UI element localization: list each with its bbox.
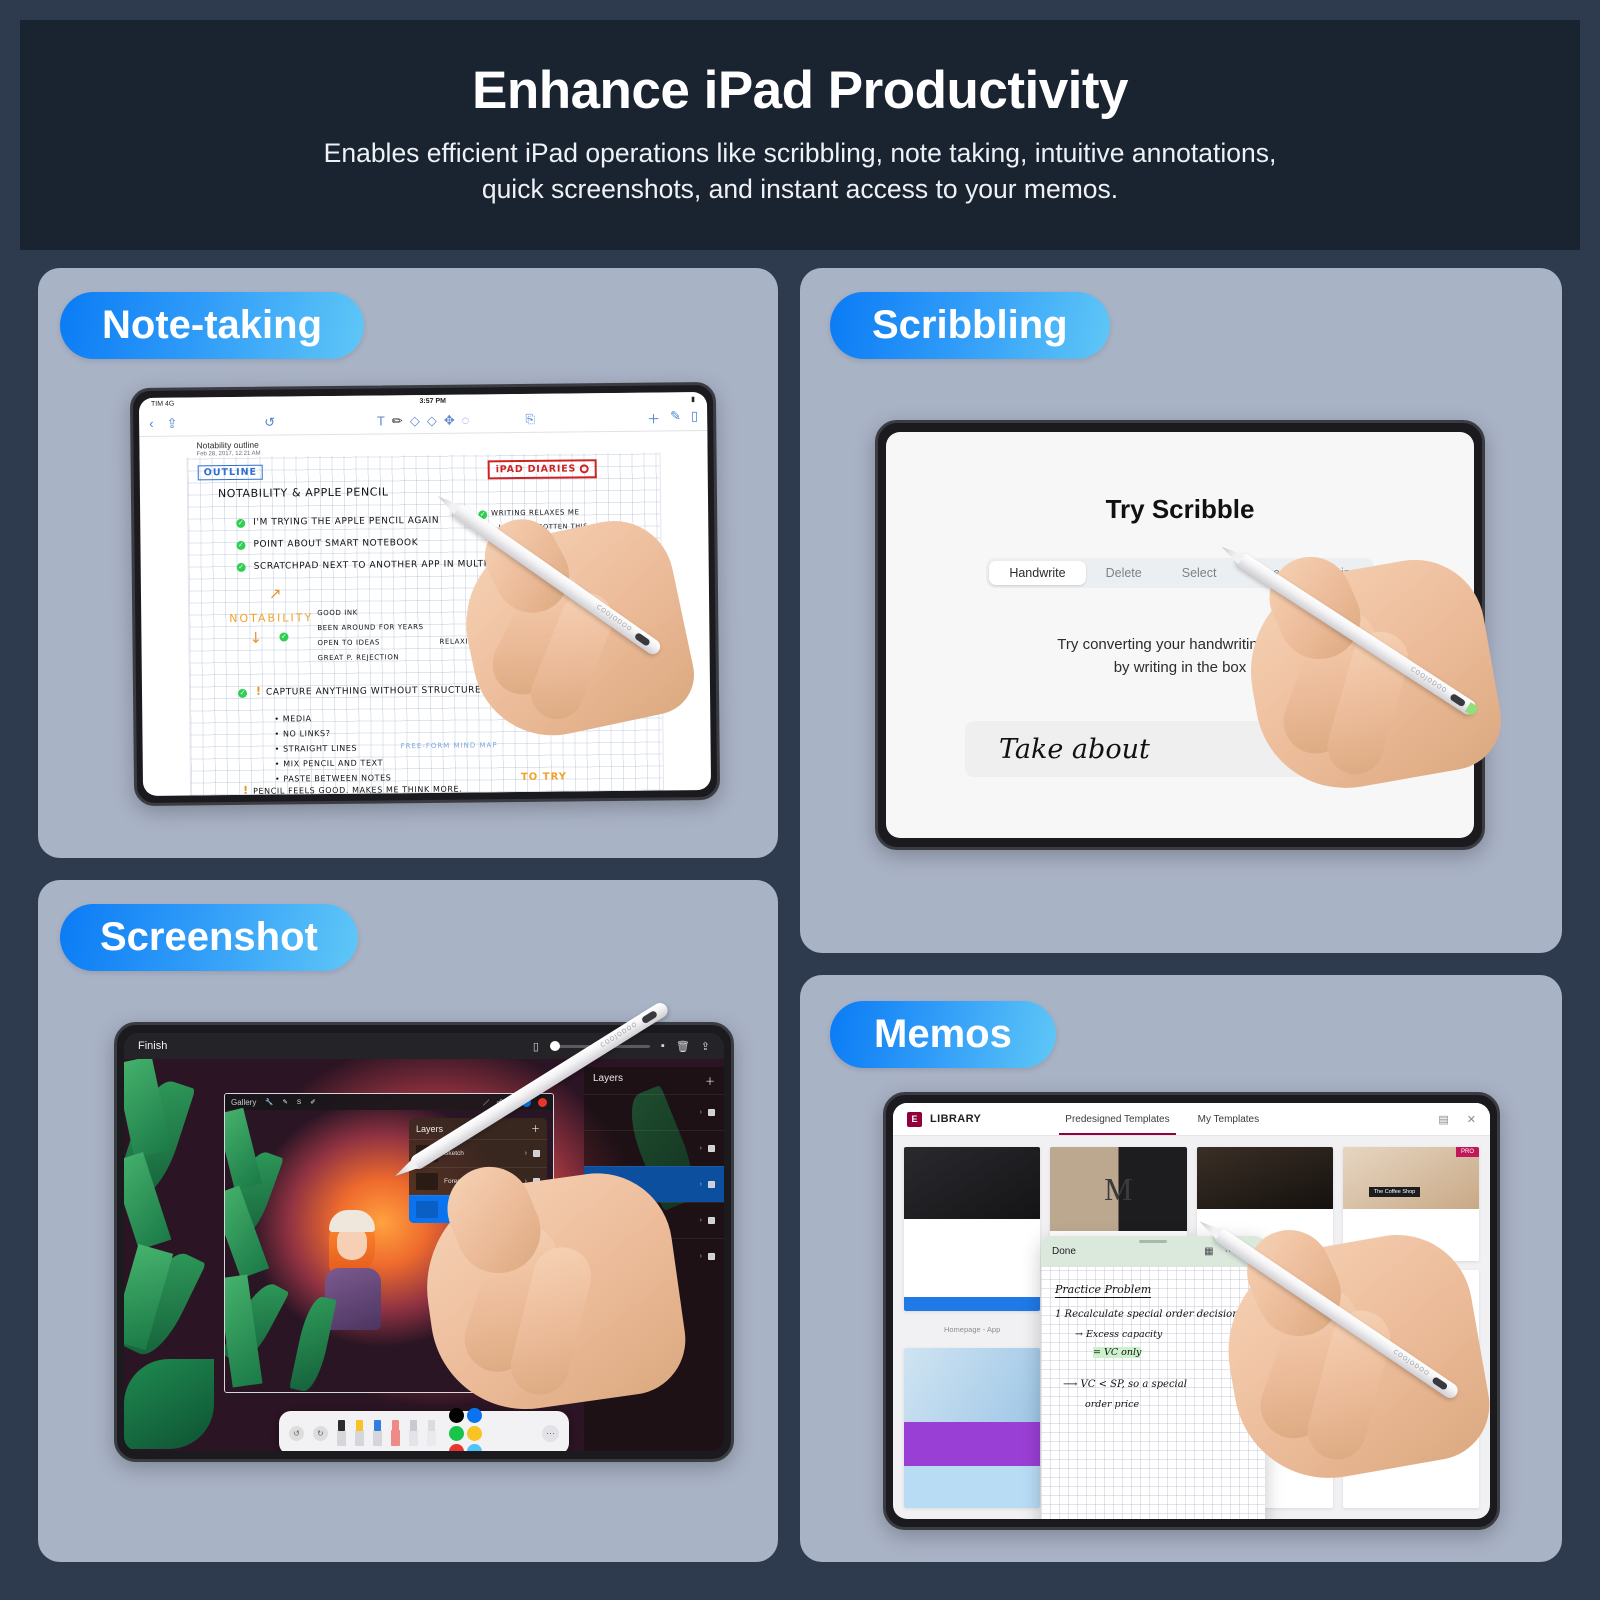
screen-notability: TIM 4G 3:57 PM ▮ ‹ ⇪ ↺ T ✏ ◇ ◇ ✥ ◌ ⎘ — [139, 392, 711, 796]
layer-row-selected[interactable]: › — [584, 1166, 724, 1202]
badge-memos: Memos — [830, 1001, 1056, 1068]
checklist-item: POINT ABOUT SMART NOTEBOOK — [253, 538, 418, 550]
layer-row[interactable]: Foreground › — [409, 1167, 547, 1195]
layer-row[interactable]: › — [584, 1202, 724, 1238]
segment-select[interactable]: Select — [1162, 561, 1237, 585]
eraser-icon[interactable]: ✐ — [310, 1098, 315, 1106]
tablet-note-taking: TIM 4G 3:57 PM ▮ ‹ ⇪ ↺ T ✏ ◇ ◇ ✥ ◌ ⎘ — [130, 382, 720, 806]
pencil-line: PENCIL FEELS GOOD. MAKES ME THINK MORE. — [253, 785, 462, 796]
scribble-title: Try Scribble — [1106, 494, 1255, 525]
screen-scribble: Try Scribble Handwrite Delete Select Ins… — [886, 432, 1474, 838]
to-try-label: TO TRY — [521, 772, 567, 783]
note-line: Practice Problem — [1055, 1283, 1151, 1298]
layer-visibility-checkbox[interactable] — [533, 1178, 540, 1185]
color-swatch-lightblue[interactable] — [467, 1444, 482, 1452]
wrench-icon[interactable]: 🔧 — [265, 1098, 273, 1106]
scribble-input-box[interactable]: Take about — [965, 721, 1395, 777]
procreate-canvas[interactable]: Gallery 🔧 ✎ S ✐ ／ ☍ ◿ — [124, 1059, 724, 1451]
layer-row[interactable]: › — [584, 1094, 724, 1130]
badge-scribbling: Scribbling — [830, 292, 1110, 359]
relaxing-note: RELAXING — [439, 637, 480, 645]
bullet-item: • MEDIA — [274, 714, 312, 723]
pencil-icon[interactable] — [373, 1420, 382, 1446]
close-icon[interactable]: ✕ — [1467, 1113, 1476, 1126]
layers-title: Layers — [593, 1073, 623, 1088]
lasso-icon[interactable]: ◌ — [462, 413, 470, 428]
background-layers-panel[interactable]: Layers ＋ › › › › › — [584, 1067, 724, 1451]
layers-popup[interactable]: Layers ＋ Sketch › Foreground › — [409, 1118, 547, 1223]
coffee-label: The Coffee Shop — [1369, 1187, 1420, 1197]
tablet-memos: E LIBRARY Predesigned Templates My Templ… — [883, 1092, 1500, 1530]
section-point: GREAT P. REJECTION — [318, 653, 400, 662]
ipad-diaries-stamp: iPAD DIARIES — [488, 459, 598, 479]
template-card[interactable] — [1343, 1270, 1479, 1508]
stylus-button — [641, 1010, 658, 1024]
badge-screenshot: Screenshot — [60, 904, 358, 971]
marker-icon[interactable]: ✏ — [392, 413, 403, 429]
pencil-icon[interactable]: ✎ — [670, 408, 681, 427]
status-carrier: TIM 4G — [151, 401, 174, 408]
scribble-segmented-control[interactable]: Handwrite Delete Select Insert Join — [986, 558, 1373, 588]
slider-knob[interactable] — [550, 1041, 560, 1051]
stylus-button — [1449, 693, 1466, 708]
template-label: Homepage - App — [904, 1320, 1040, 1339]
status-battery: ▮ — [691, 395, 695, 403]
handwriting-text: Take about — [999, 734, 1150, 765]
trash-icon[interactable]: 🗑 — [676, 1040, 690, 1053]
bullet-item: • PASTE BETWEEN NOTES — [275, 773, 392, 783]
chevron-right-icon[interactable]: › — [525, 1150, 527, 1157]
text-icon[interactable]: T — [377, 413, 385, 428]
save-icon[interactable]: ▤ — [1438, 1113, 1448, 1126]
status-time: 3:57 PM — [419, 398, 446, 405]
color-swatch[interactable] — [538, 1098, 547, 1107]
device-icon[interactable]: ▯ — [533, 1040, 539, 1053]
checklist-item: I'M TRYING THE APPLE PENCIL AGAIN — [253, 516, 439, 528]
highlighter-icon[interactable] — [355, 1420, 364, 1446]
scissors-icon[interactable]: ✥ — [444, 412, 455, 428]
layer-name: Foreground — [444, 1178, 478, 1185]
layer-row[interactable]: › — [584, 1238, 724, 1274]
tab-my-templates[interactable]: My Templates — [1198, 1103, 1260, 1135]
template-tabs[interactable]: Predesigned Templates My Templates — [1065, 1103, 1259, 1135]
smudge-icon[interactable]: ✎ — [282, 1098, 287, 1106]
color-palette[interactable] — [449, 1408, 487, 1452]
bullet-item: • STRAIGHT LINES — [275, 744, 358, 754]
page-icon[interactable]: ▯ — [691, 408, 698, 427]
checkbox-icon[interactable]: ✓ — [237, 563, 246, 572]
tablet-screenshot: Finish ▯ ▪ 🗑 ⇪ Gall — [114, 1022, 734, 1462]
tool-group: T ✏ ◇ ◇ ✥ ◌ — [377, 412, 470, 429]
header-banner: Enhance iPad Productivity Enables effici… — [20, 20, 1580, 250]
header-subtitle-line1: Enables efficient iPad operations like s… — [324, 135, 1277, 172]
badge-note-taking: Note-taking — [60, 292, 364, 359]
exclamation-icon: ! — [243, 784, 248, 796]
lasso-icon[interactable] — [409, 1420, 418, 1446]
elementor-header[interactable]: E LIBRARY Predesigned Templates My Templ… — [893, 1103, 1490, 1136]
arrow-down-icon: ↓ — [249, 629, 262, 647]
eraser-icon[interactable]: ◇ — [427, 412, 437, 428]
finish-button[interactable]: Finish — [138, 1040, 167, 1052]
header-subtitle: Enables efficient iPad operations like s… — [324, 135, 1277, 208]
template-card[interactable] — [904, 1147, 1040, 1311]
color-swatch-black[interactable] — [449, 1408, 464, 1423]
mic-icon[interactable]: ⎘ — [525, 412, 535, 427]
template-card[interactable] — [904, 1348, 1040, 1508]
panel-note-taking: Note-taking TIM 4G 3:57 PM ▮ ‹ ⇪ ↺ T ✏ ◇… — [38, 268, 778, 858]
instruction-line2: by writing in the box — [1057, 657, 1302, 680]
checklist-item: SCRATCHPAD NEXT TO ANOTHER APP IN MULTIT… — [254, 559, 530, 572]
segment-join[interactable]: Join — [1308, 561, 1371, 585]
note-line: order price — [1085, 1399, 1139, 1410]
template-column: Homepage - App — [904, 1147, 1040, 1508]
chevron-right-icon[interactable]: › — [525, 1178, 527, 1185]
grid-icon[interactable]: ▦ — [1204, 1246, 1213, 1257]
tab-predesigned-templates[interactable]: Predesigned Templates — [1065, 1103, 1169, 1135]
bullet-item: • NO LINKS? — [274, 729, 330, 739]
inner-artwork-window[interactable]: Gallery 🔧 ✎ S ✐ ／ ☍ ◿ — [224, 1093, 554, 1393]
page-icon[interactable]: ▪ — [661, 1040, 665, 1052]
monogram: M — [1050, 1147, 1186, 1231]
highlighter-icon[interactable]: ◇ — [410, 413, 420, 429]
section-point: GOOD INK — [317, 609, 358, 617]
segment-delete[interactable]: Delete — [1086, 561, 1162, 585]
screen-elementor: E LIBRARY Predesigned Templates My Templ… — [893, 1103, 1490, 1519]
header-subtitle-line2: quick screenshots, and instant access to… — [324, 171, 1277, 208]
procreate-toolbar[interactable]: Finish ▯ ▪ 🗑 ⇪ — [124, 1033, 724, 1059]
note-line: ⟶ VC < SP, so a special — [1063, 1379, 1187, 1390]
arrow-up-icon: ↗ — [269, 585, 282, 603]
stylus-button — [1431, 1376, 1448, 1391]
instruction-line1: Try converting your handwriting into t — [1057, 634, 1302, 657]
quick-note-overlay[interactable]: Done ▦ ⋯ ✎ Practice Problem 1 Recalculat… — [1041, 1236, 1265, 1519]
pen-icon[interactable]: ／ — [483, 1097, 490, 1107]
gallery-button[interactable]: Gallery — [231, 1098, 256, 1107]
notebook-page[interactable]: OUTLINE iPAD DIARIES NOTABILITY & APPLE … — [187, 453, 665, 796]
layers-title: Layers — [416, 1124, 443, 1134]
layer-thumbnail — [416, 1201, 438, 1218]
segment-handwrite[interactable]: Handwrite — [989, 561, 1085, 585]
bullet-item: • MIX PENCIL AND TEXT — [275, 758, 383, 768]
panel-memos: Memos E LIBRARY Predesigned Templates My… — [800, 975, 1562, 1562]
note-line: 1 Recalculate special order decision — [1055, 1309, 1239, 1320]
heading-main: NOTABILITY & APPLE PENCIL — [218, 485, 389, 500]
redo-icon[interactable]: ↻ — [313, 1426, 328, 1441]
side-note: I HAD FORGOTTEN THIS — [498, 522, 588, 531]
chevron-right-icon[interactable]: › — [525, 1206, 527, 1213]
mindmap-label: FREE-FORM MIND MAP — [401, 741, 498, 750]
note-line: → Excess capacity — [1075, 1329, 1162, 1340]
quick-note-paper[interactable]: Practice Problem 1 Recalculate special o… — [1041, 1267, 1265, 1519]
eraser-icon[interactable] — [391, 1420, 400, 1446]
share-icon[interactable]: ⇪ — [701, 1040, 710, 1053]
note-line-highlighted: = VC only — [1093, 1347, 1141, 1358]
checkbox-icon[interactable]: ✓ — [238, 689, 247, 698]
section-label: NOTABILITY — [229, 611, 313, 625]
layer-thumbnail — [416, 1173, 438, 1190]
checkbox-icon[interactable]: ✓ — [236, 541, 245, 550]
side-note: WRITING RELAXES ME — [491, 508, 579, 517]
layer-visibility-checkbox[interactable] — [533, 1206, 540, 1213]
back-icon[interactable]: ‹ — [149, 415, 154, 431]
color-swatch-green[interactable] — [449, 1426, 464, 1441]
exclamation-icon: ! — [256, 685, 261, 698]
background-layers-header: Layers ＋ — [584, 1067, 724, 1094]
pro-badge: PRO — [1456, 1147, 1479, 1157]
layer-visibility-checkbox[interactable] — [533, 1150, 540, 1157]
color-swatch-blue[interactable] — [467, 1408, 482, 1423]
color-swatch-red[interactable] — [449, 1444, 464, 1452]
layer-row[interactable]: › — [584, 1130, 724, 1166]
ruler-icon[interactable] — [427, 1420, 436, 1446]
page-title: Enhance iPad Productivity — [472, 62, 1128, 120]
scribble-instructions: Try converting your handwriting into t b… — [1057, 634, 1302, 679]
drag-handle[interactable] — [1139, 1240, 1167, 1243]
plus-icon[interactable]: ＋ — [647, 409, 660, 428]
layer-row-selected[interactable]: › — [409, 1195, 547, 1223]
tablet-scribbling: Try Scribble Handwrite Delete Select Ins… — [875, 420, 1485, 850]
screen-procreate: Finish ▯ ▪ 🗑 ⇪ Gall — [124, 1033, 724, 1451]
color-swatch-yellow[interactable] — [467, 1426, 482, 1441]
template-card[interactable]: PRO The Coffee Shop — [1343, 1147, 1479, 1261]
panel-screenshot: Screenshot Finish ▯ ▪ 🗑 ⇪ — [38, 880, 778, 1562]
capture-line: CAPTURE ANYTHING WITHOUT STRUCTURE — [266, 685, 481, 697]
undo-icon[interactable]: ↺ — [289, 1426, 304, 1441]
checkbox-icon[interactable]: ✓ — [236, 519, 245, 528]
pen-icon[interactable] — [337, 1420, 346, 1446]
section-point: BEEN AROUND FOR YEARS — [317, 623, 423, 632]
markup-toolbar[interactable]: ↺ ↻ ⋯ — [279, 1411, 569, 1451]
share-icon[interactable]: ⇪ — [166, 415, 177, 431]
library-label: LIBRARY — [930, 1113, 981, 1125]
panel-scribbling: Scribbling Try Scribble Handwrite Delete… — [800, 268, 1562, 953]
plus-icon[interactable]: ＋ — [531, 1122, 540, 1135]
checkbox-icon[interactable]: ✓ — [279, 632, 288, 641]
stylus-button — [634, 632, 651, 647]
elementor-logo-icon: E — [907, 1112, 922, 1127]
brush-icon[interactable]: S — [297, 1099, 301, 1106]
plus-icon[interactable]: ＋ — [705, 1073, 715, 1088]
heading-outline: OUTLINE — [198, 465, 263, 481]
section-point: OPEN TO IDEAS — [317, 638, 380, 647]
stamp-dot-icon — [580, 464, 589, 473]
undo-icon[interactable]: ↺ — [264, 414, 275, 430]
done-button[interactable]: Done — [1052, 1246, 1076, 1257]
more-icon[interactable]: ⋯ — [542, 1425, 559, 1442]
